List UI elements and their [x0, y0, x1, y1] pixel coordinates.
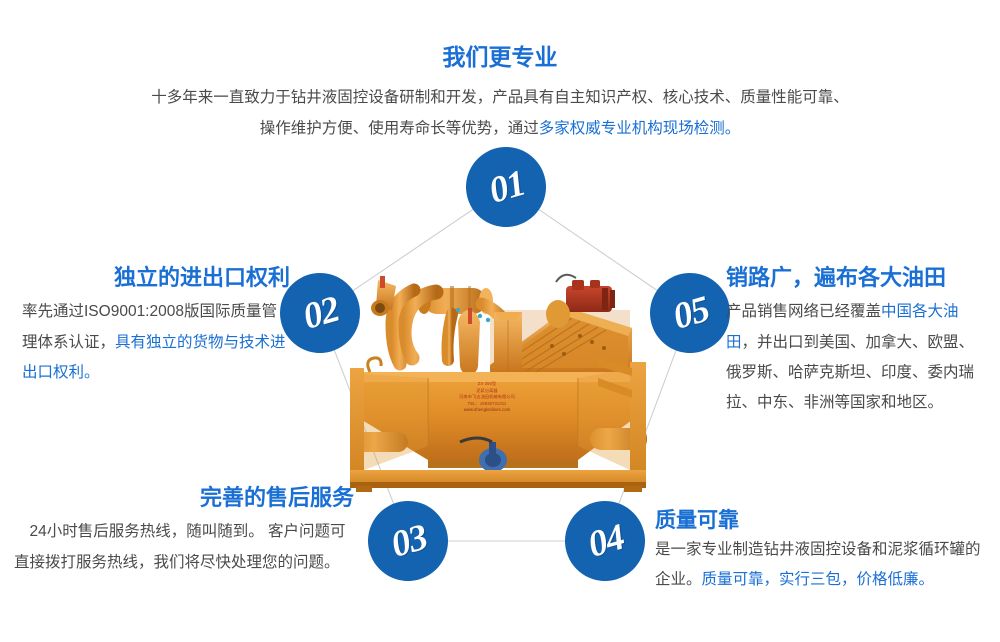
step-number-05: 05: [667, 290, 713, 336]
feature-body-02: 率先通过ISO9001:2008版国际质量管理体系认证，具有独立的货物与技术进出…: [22, 297, 290, 388]
feature-title-02: 独立的进出口权利: [22, 265, 290, 291]
plain-text: 十多年来一直致力于钻井液固控设备研制和开发，产品具有自主知识产权、核心技术、质量…: [151, 89, 849, 137]
feature-block-01: 我们更专业 十多年来一直致力于钻井液固控设备研制和开发，产品具有自主知识产权、核…: [150, 44, 850, 144]
feature-body-04: 是一家专业制造钻井液固控设备和泥浆循环罐的企业。质量可靠，实行三包，价格低廉。: [655, 535, 990, 595]
feature-title-05: 销路广，遍布各大油田: [726, 265, 988, 291]
feature-block-04: 质量可靠 是一家专业制造钻井液固控设备和泥浆循环罐的企业。质量可靠，实行三包，价…: [655, 508, 990, 596]
machine-caption: ZX-250型 泥浆分离器 河南市飞达油田机械有限公司 TEL：15936731…: [452, 381, 522, 414]
plain-text: 24小时售后服务热线，随叫随到。 客户问题可直接拨打服务热线，我们将尽快处理您的…: [14, 523, 346, 570]
feature-block-02: 独立的进出口权利 率先通过ISO9001:2008版国际质量管理体系认证，具有独…: [22, 265, 290, 388]
step-number-02: 02: [297, 290, 343, 336]
feature-block-03: 完善的售后服务 24小时售后服务热线，随叫随到。 客户问题可直接拨打服务热线，我…: [14, 485, 354, 578]
highlighted-text: 多家权威专业机构现场检测。: [539, 120, 741, 137]
feature-title-04: 质量可靠: [655, 508, 990, 533]
feature-block-05: 销路广，遍布各大油田 产品销售网络已经覆盖中国各大油田，并出口到美国、加拿大、欧…: [726, 265, 988, 418]
machine-caption-url: www.shenglonlives.com: [452, 407, 522, 414]
step-number-04: 04: [582, 518, 628, 564]
plain-text: ，并出口到美国、加拿大、欧盟、俄罗斯、哈萨克斯坦、印度、委内瑞拉、中东、非洲等国…: [726, 334, 974, 411]
machine-caption-line: 河南市飞达油田机械有限公司: [452, 394, 522, 401]
cyclone-pipes: [371, 276, 510, 374]
step-circle-04[interactable]: 04: [556, 492, 655, 591]
feature-body-01: 十多年来一直致力于钻井液固控设备研制和开发，产品具有自主知识产权、核心技术、质量…: [150, 82, 850, 144]
machine-photo: [340, 250, 670, 495]
feature-title-01: 我们更专业: [150, 44, 850, 72]
step-circle-01[interactable]: 01: [457, 138, 556, 237]
step-circle-03[interactable]: 03: [359, 492, 458, 591]
feature-title-03: 完善的售后服务: [14, 485, 354, 511]
plain-text: 产品销售网络已经覆盖: [726, 303, 881, 320]
feed-chute: [494, 312, 522, 372]
step-number-01: 01: [483, 164, 529, 210]
step-number-03: 03: [385, 518, 431, 564]
feature-body-03: 24小时售后服务热线，随叫随到。 客户问题可直接拨打服务热线，我们将尽快处理您的…: [14, 517, 354, 577]
promo-infographic: ZX-250型 泥浆分离器 河南市飞达油田机械有限公司 TEL：15936731…: [0, 0, 1000, 642]
feature-body-05: 产品销售网络已经覆盖中国各大油田，并出口到美国、加拿大、欧盟、俄罗斯、哈萨克斯坦…: [726, 297, 988, 418]
highlighted-text: 质量可靠，实行三包，价格低廉。: [702, 571, 935, 588]
